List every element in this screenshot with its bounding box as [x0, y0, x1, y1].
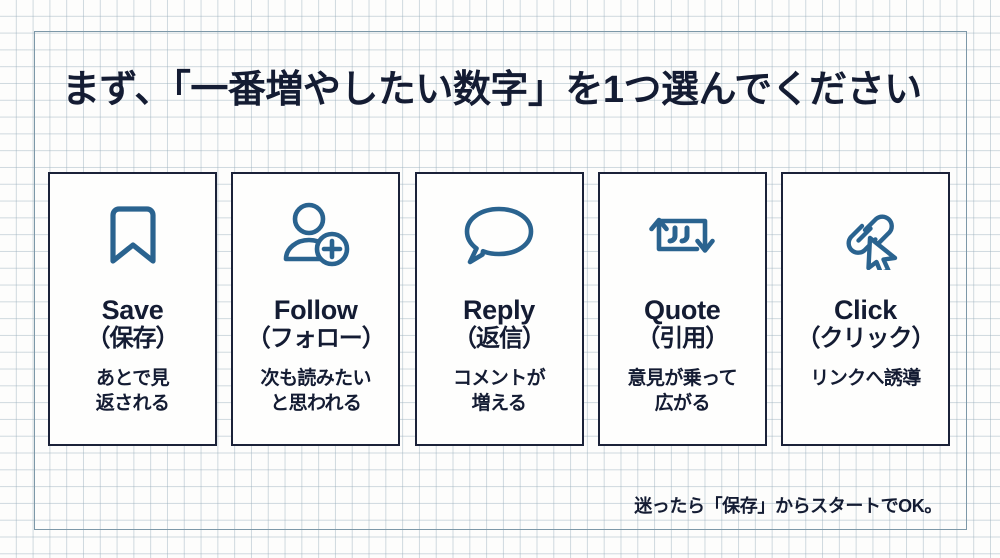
card-description: コメントが 増える	[447, 367, 551, 416]
card-description: あとで見 返される	[90, 367, 176, 416]
card-title: Save	[102, 296, 164, 325]
metric-card-follow[interactable]: Follow （フォロー） 次も読みたい と思われる	[231, 172, 400, 446]
slide-canvas: まず、「一番増やしたい数字」を1つ選んでください Save （保存） あとで見 …	[0, 0, 1000, 558]
metric-card-row: Save （保存） あとで見 返される Follow （フォロー） 次も読みたい…	[48, 172, 950, 446]
card-description: 次も読みたい と思われる	[255, 367, 377, 416]
metric-card-quote[interactable]: Quote （引用） 意見が乗って 広がる	[598, 172, 767, 446]
bookmark-icon	[90, 196, 176, 274]
card-title: Quote	[644, 296, 721, 325]
metric-card-save[interactable]: Save （保存） あとで見 返される	[48, 172, 217, 446]
metric-card-click[interactable]: Click （クリック） リンクへ誘導	[781, 172, 950, 446]
metric-card-reply[interactable]: Reply （返信） コメントが 増える	[415, 172, 584, 446]
link-cursor-icon	[823, 196, 909, 274]
card-subtitle: （保存）	[87, 326, 179, 353]
card-subtitle: （返信）	[453, 326, 545, 353]
card-subtitle: （引用）	[636, 326, 728, 353]
card-description: 意見が乗って 広がる	[622, 367, 743, 416]
card-title: Follow	[274, 296, 358, 325]
card-subtitle: （クリック）	[797, 326, 935, 353]
card-subtitle: （フォロー）	[247, 326, 385, 353]
card-description: リンクへ誘導	[804, 367, 926, 392]
card-title: Click	[834, 296, 897, 325]
footer-note: 迷ったら「保存」からスタートでOK。	[634, 492, 942, 518]
quote-loop-icon	[639, 196, 725, 274]
page-title: まず、「一番増やしたい数字」を1つ選んでください	[62, 68, 942, 113]
card-title: Reply	[463, 296, 535, 325]
user-plus-icon	[273, 196, 359, 274]
speech-bubble-icon	[456, 196, 542, 274]
